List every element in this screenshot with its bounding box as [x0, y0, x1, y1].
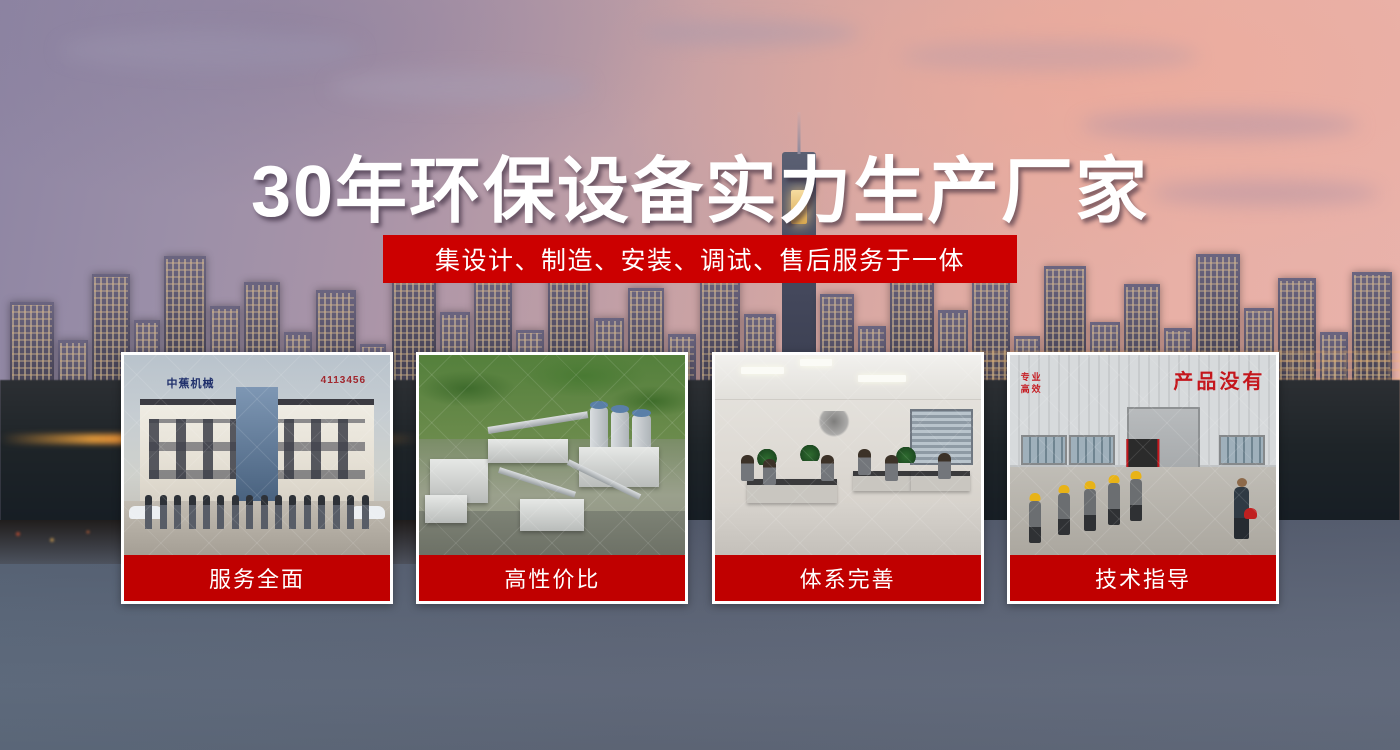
office-workspace-photo: [715, 355, 981, 555]
factory-slogan-text: 专业高效: [1021, 371, 1043, 395]
feature-card-list: 中蕉机械 4113456 服务全面: [121, 352, 1279, 604]
feature-card[interactable]: 产品没有 专业高效 技术指导: [1007, 352, 1279, 604]
factory-worker: [1108, 483, 1120, 525]
plant-building: [520, 499, 584, 531]
staff-lineup: [145, 495, 368, 529]
feature-card[interactable]: 中蕉机械 4113456 服务全面: [121, 352, 393, 604]
potted-plant: [800, 445, 820, 461]
company-headquarters-photo: 中蕉机械 4113456: [124, 355, 390, 555]
office-worker: [885, 455, 898, 481]
roof-sign-text: 中蕉机械: [167, 375, 215, 391]
cloud-shape: [900, 40, 1200, 72]
ceiling-light: [800, 359, 832, 366]
subtitle-banner: 集设计、制造、安装、调试、售后服务于一体: [383, 235, 1017, 283]
subtitle-text: 集设计、制造、安装、调试、售后服务于一体: [435, 241, 965, 277]
headline-title: 30年环保设备实力生产厂家: [0, 132, 1400, 237]
factory-window: [1069, 435, 1116, 465]
factory-worker: [1029, 501, 1041, 543]
conveyor-belt: [498, 467, 576, 497]
storage-silo: [611, 411, 630, 447]
feature-card[interactable]: 高性价比: [416, 352, 688, 604]
production-plant-aerial-photo: [419, 355, 685, 555]
card-caption: 高性价比: [419, 555, 685, 601]
red-helmet: [1244, 508, 1257, 519]
card-caption: 体系完善: [715, 555, 981, 601]
wall-decoration: [818, 411, 850, 437]
office-ceiling: [715, 355, 981, 400]
card-caption: 技术指导: [1010, 555, 1276, 601]
card-caption: 服务全面: [124, 555, 390, 601]
cloud-shape: [330, 70, 590, 104]
storage-silo: [632, 415, 651, 447]
factory-window: [1219, 435, 1266, 465]
cloud-shape: [640, 20, 860, 46]
factory-worker: [1058, 493, 1070, 535]
factory-worker: [1084, 489, 1096, 531]
potted-plant: [896, 447, 916, 463]
hero-banner: 30年环保设备实力生产厂家 集设计、制造、安装、调试、售后服务于一体 中蕉机械 …: [0, 0, 1400, 750]
plant-building: [488, 439, 568, 463]
office-worker: [821, 455, 834, 481]
ceiling-light: [741, 367, 784, 374]
office-worker: [763, 459, 776, 485]
phone-number-text: 4113456: [321, 375, 366, 386]
factory-worker: [1130, 479, 1142, 521]
plant-building: [579, 447, 659, 487]
feature-card[interactable]: 体系完善: [712, 352, 984, 604]
office-worker: [858, 449, 871, 475]
storage-silo: [590, 407, 609, 447]
plant-building: [425, 495, 468, 523]
office-worker: [938, 453, 951, 479]
building-atrium: [236, 387, 279, 503]
ceiling-light: [858, 375, 906, 382]
factory-workers-training-photo: 产品没有 专业高效: [1010, 355, 1276, 555]
cloud-shape: [60, 30, 360, 70]
factory-window: [1021, 435, 1068, 465]
office-desk: [747, 479, 837, 503]
factory-banner-text: 产品没有: [1173, 365, 1265, 394]
office-floor: [715, 503, 981, 555]
office-worker: [741, 455, 754, 481]
